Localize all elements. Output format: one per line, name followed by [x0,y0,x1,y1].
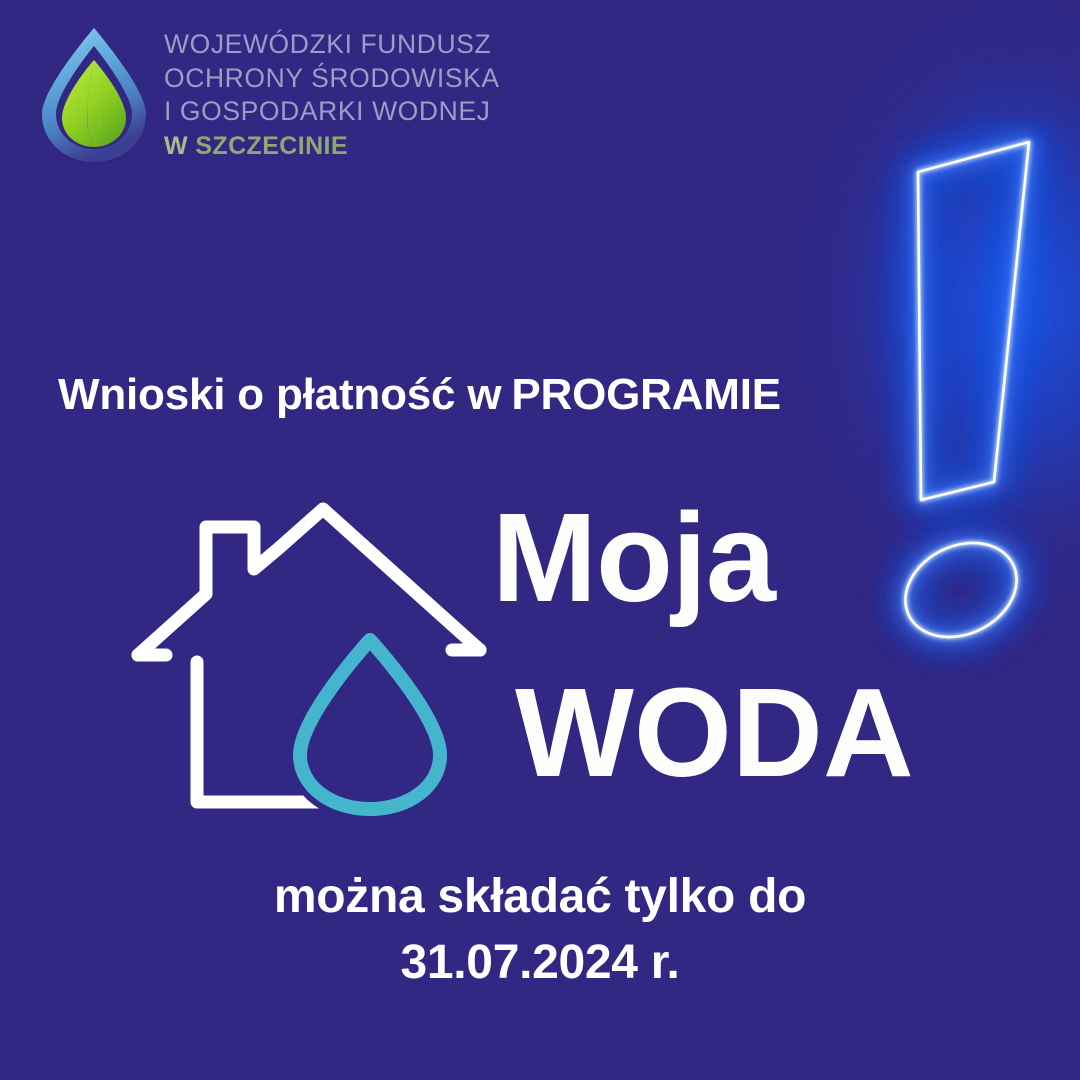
poster-canvas: WOJEWÓDZKI FUNDUSZ OCHRONY ŚRODOWISKA I … [0,0,1080,1080]
logo-city-line: W SZCZECINIE [164,132,504,160]
wfosigw-logo: WOJEWÓDZKI FUNDUSZ OCHRONY ŚRODOWISKA I … [30,22,500,182]
logo-city-prefix: W [164,132,188,160]
house-with-water-drop-artwork [130,480,510,825]
headline: Wnioski o płatność wPROGRAMIE [58,370,918,420]
footer-line-one: można składać tylko do [0,866,1080,928]
brand-word-moja: Moja [492,495,775,621]
headline-part-two: PROGRAMIE [511,370,781,419]
headline-part-one: Wnioski o płatność w [58,370,501,419]
logo-line-1: WOJEWÓDZKI FUNDUSZ [164,28,504,62]
logo-text-block: WOJEWÓDZKI FUNDUSZ OCHRONY ŚRODOWISKA I … [164,28,504,160]
brand-word-woda: WODA [515,670,914,796]
logo-line-3: I GOSPODARKI WODNEJ [164,95,504,129]
house-outline-icon [138,509,480,802]
water-drop-icon [300,640,440,809]
logo-line-2: OCHRONY ŚRODOWISKA [164,62,504,96]
water-drop-leaf-logo-icon [30,22,160,170]
footer-block: można składać tylko do 31.07.2024 r. [0,866,1080,994]
logo-city-name: SZCZECINIE [195,132,348,160]
footer-deadline-date: 31.07.2024 r. [0,932,1080,994]
